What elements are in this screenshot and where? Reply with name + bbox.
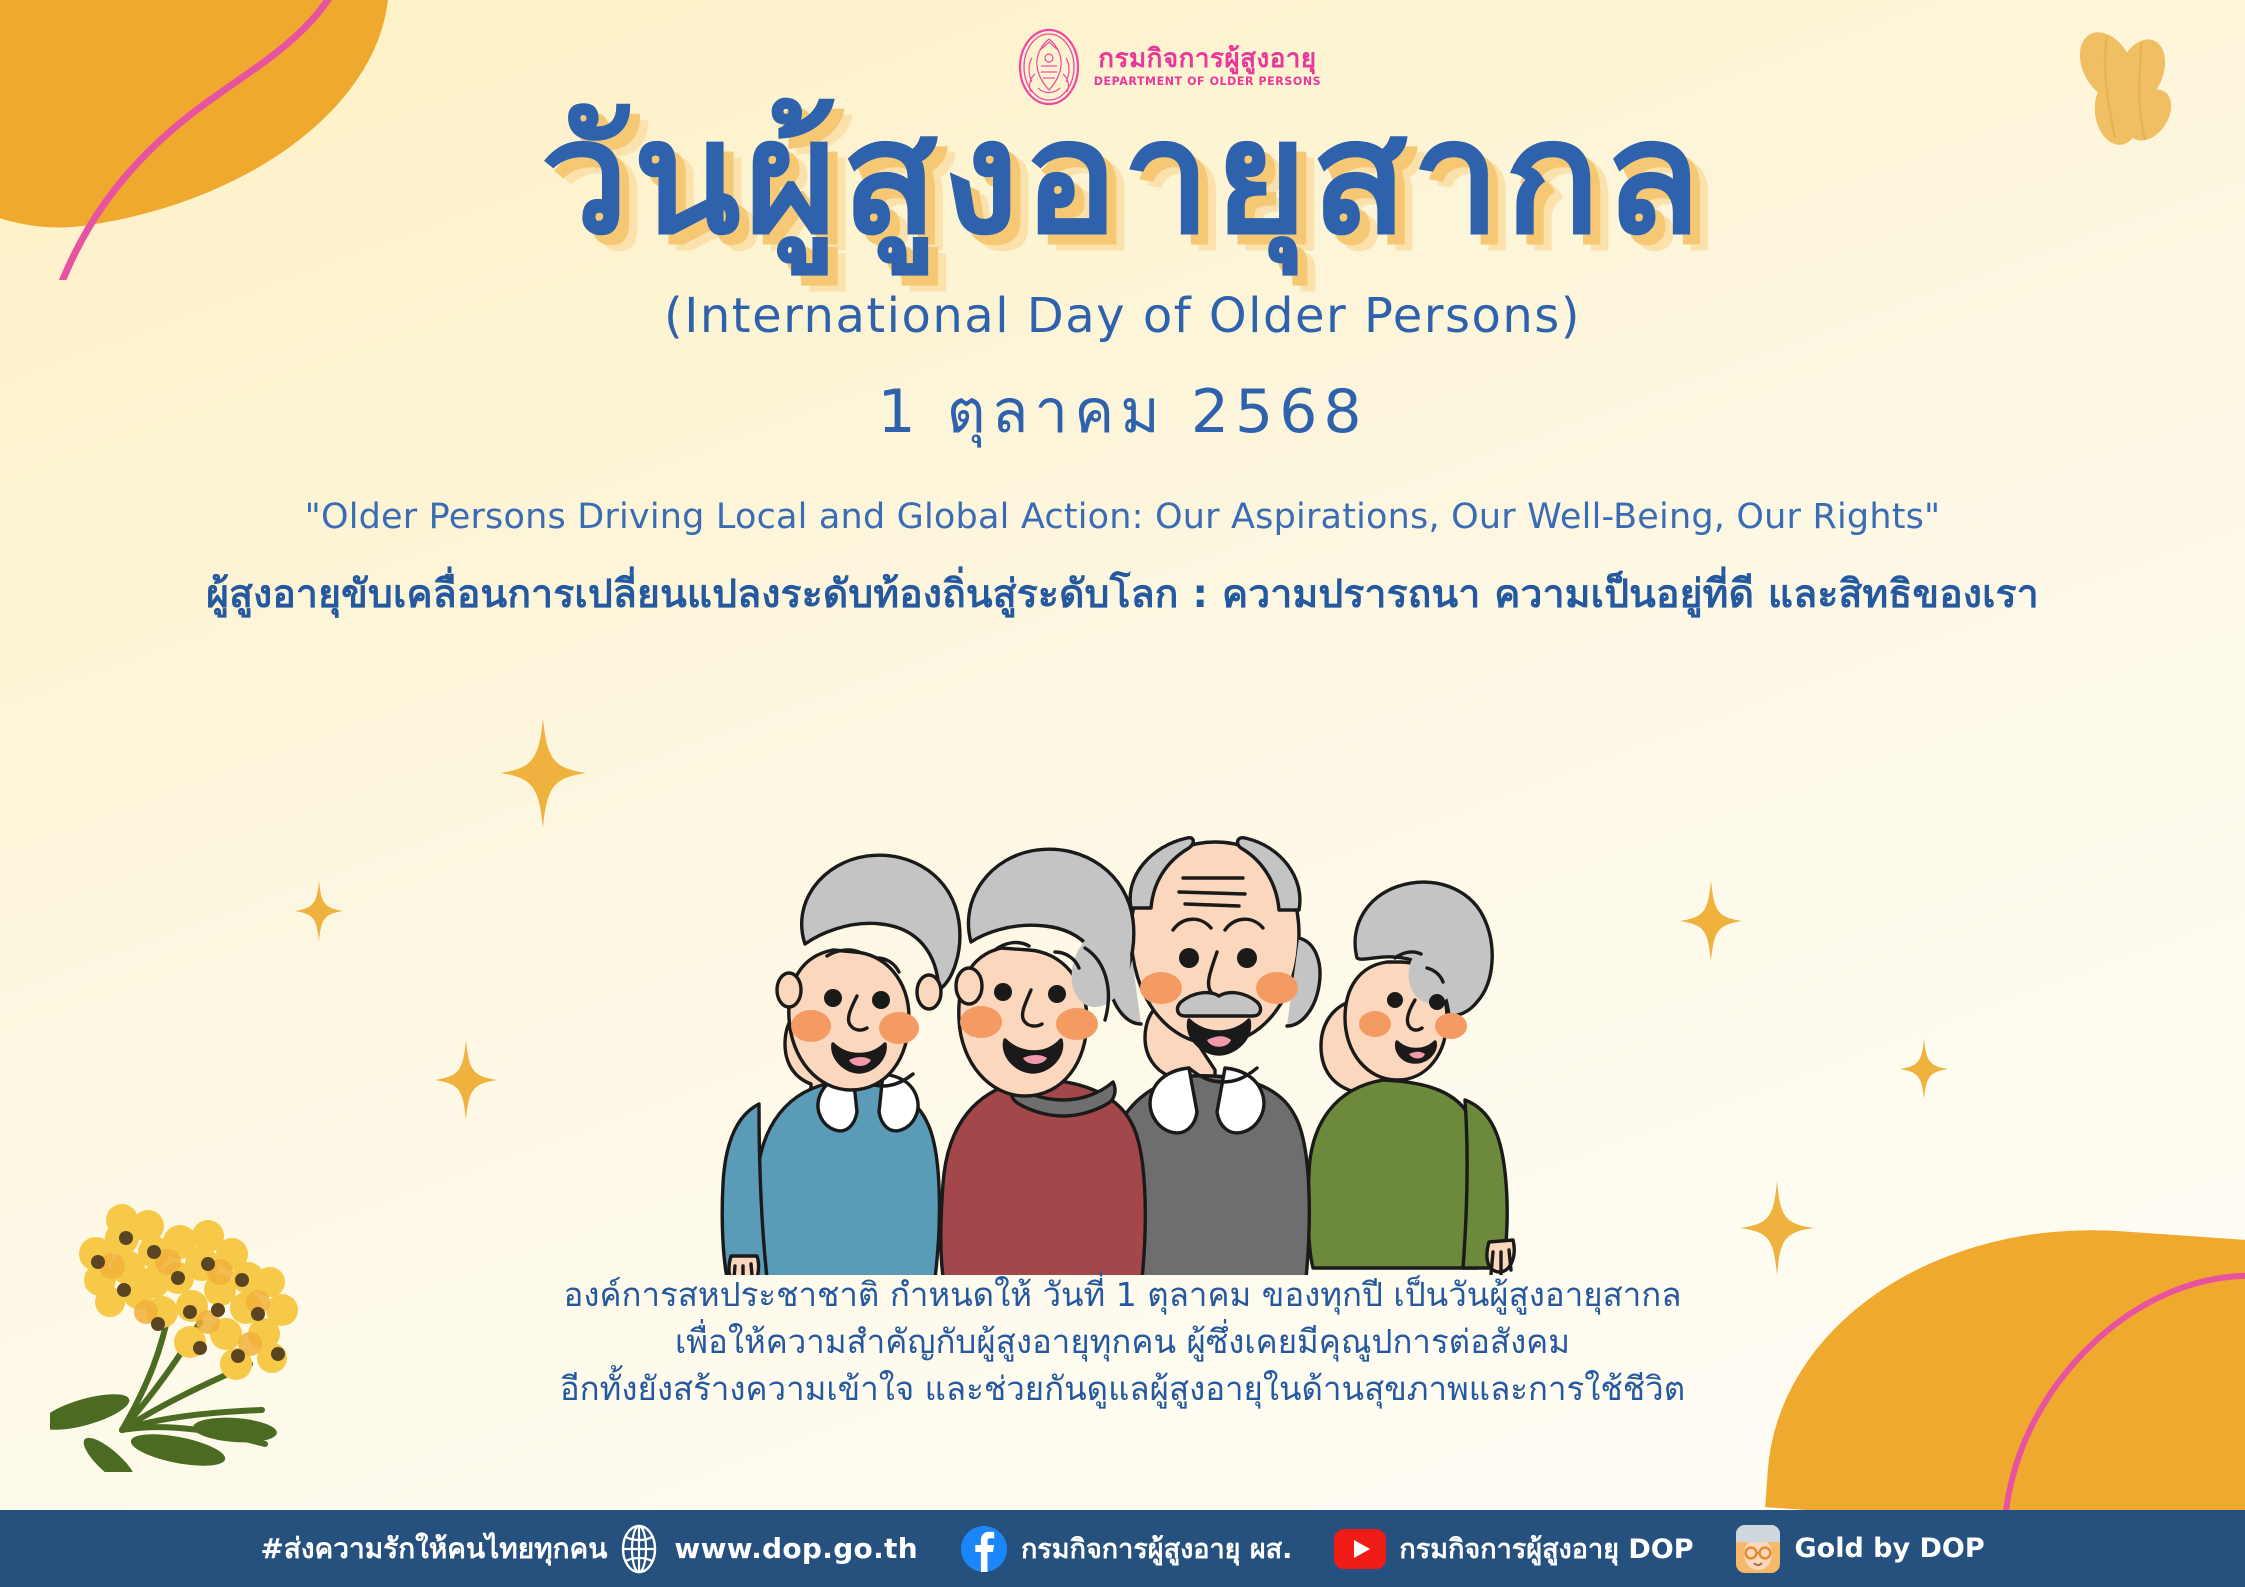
description-line: เพื่อให้ความสำคัญกับผู้สูงอายุทุกคน ผู้ซ… bbox=[0, 1319, 2245, 1366]
description-line: อีกทั้งยังสร้างความเข้าใจ และช่วยกันดูแล… bbox=[0, 1366, 2245, 1413]
footer-hashtag: #ส่งความรักให้คนไทยทุกคน bbox=[260, 1527, 607, 1571]
elder-blue bbox=[722, 855, 960, 1275]
description-line: องค์การสหประชาชาติ กำหนดให้ วันที่ 1 ตุล… bbox=[0, 1272, 2245, 1319]
sparkle-star bbox=[1900, 1038, 1948, 1100]
dop-logo-thai: กรมกิจการผู้สูงอายุ bbox=[1098, 46, 1316, 72]
gold-app-icon bbox=[1735, 1524, 1781, 1574]
sparkle-star bbox=[295, 880, 343, 942]
sparkle-star bbox=[1740, 1180, 1814, 1276]
footer-facebook-link[interactable]: กรมกิจการผู้สูงอายุ ผส. bbox=[960, 1525, 1292, 1573]
headline-block: วันผู้สูงอายุสากล (International Day of … bbox=[0, 96, 2245, 625]
sparkle-star bbox=[1680, 880, 1742, 962]
theme-thai: ผู้สูงอายุขับเคลื่อนการเปลี่ยนแปลงระดับท… bbox=[0, 563, 2245, 625]
footer-youtube-label: กรมกิจการผู้สูงอายุ DOP bbox=[1399, 1527, 1693, 1570]
globe-icon bbox=[617, 1524, 661, 1574]
poster-canvas: กรมกิจการผู้สูงอายุ DEPARTMENT OF OLDER … bbox=[0, 0, 2245, 1587]
footer-website-label: www.dop.go.th bbox=[674, 1532, 918, 1565]
theme-english: "Older Persons Driving Local and Global … bbox=[0, 497, 2245, 537]
footer-youtube-link[interactable]: กรมกิจการผู้สูงอายุ DOP bbox=[1334, 1527, 1693, 1570]
footer-bar: #ส่งความรักให้คนไทยทุกคน www.dop.go.th ก… bbox=[0, 1510, 2245, 1587]
elder-green bbox=[1308, 882, 1514, 1274]
sparkle-star bbox=[435, 1040, 497, 1120]
facebook-icon bbox=[960, 1525, 1008, 1573]
description-paragraph: องค์การสหประชาชาติ กำหนดให้ วันที่ 1 ตุล… bbox=[0, 1272, 2245, 1413]
page-title: วันผู้สูงอายุสากล bbox=[0, 96, 2245, 262]
footer-website-link[interactable]: www.dop.go.th bbox=[617, 1524, 918, 1574]
youtube-icon bbox=[1334, 1529, 1386, 1569]
footer-facebook-label: กรมกิจการผู้สูงอายุ ผส. bbox=[1021, 1527, 1292, 1570]
subtitle-english: (International Day of Older Persons) bbox=[0, 288, 2245, 344]
footer-gold-app-link[interactable]: Gold by DOP bbox=[1735, 1524, 1984, 1574]
sparkle-star bbox=[500, 718, 586, 828]
elder-red bbox=[940, 849, 1144, 1275]
footer-gold-app-label: Gold by DOP bbox=[1794, 1533, 1984, 1564]
event-date: 1 ตุลาคม 2568 bbox=[0, 364, 2245, 459]
elderly-group-illustration: .ol{stroke:#1a1a1a;stroke-width:3.4;stro… bbox=[683, 700, 1563, 1275]
